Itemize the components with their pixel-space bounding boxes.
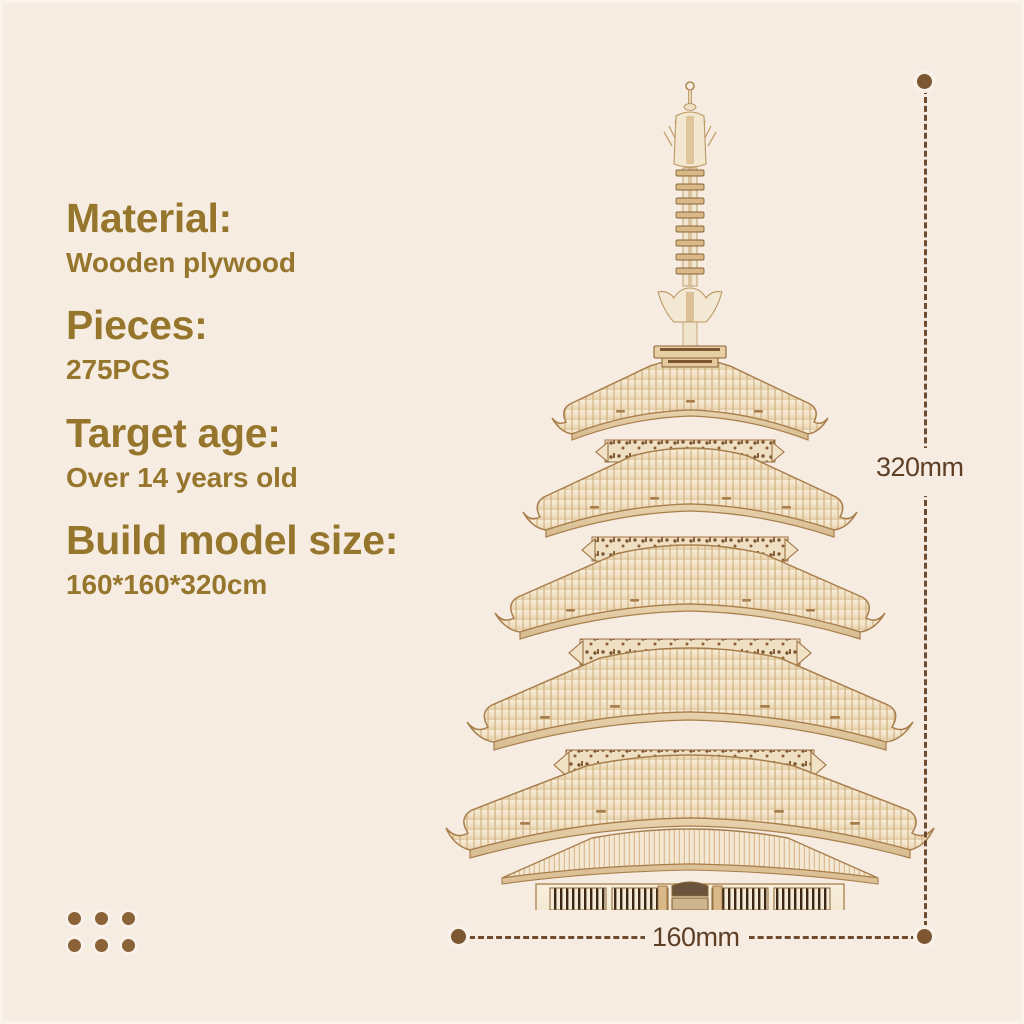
decor-dot <box>122 912 135 925</box>
height-dimension-label: 320mm <box>876 452 964 483</box>
roof-tier-1 <box>552 358 828 440</box>
infographic-canvas: Material: Wooden plywood Pieces: 275PCS … <box>0 0 1024 1024</box>
spec-item-build-size: Build model size: 160*160*320cm <box>66 518 496 603</box>
pagoda-spire <box>654 82 726 358</box>
roof-tier-4 <box>467 648 913 750</box>
spec-item-material: Material: Wooden plywood <box>66 196 496 281</box>
spec-value-target-age: Over 14 years old <box>66 460 496 496</box>
spec-heading-pieces: Pieces: <box>66 303 496 349</box>
spec-value-material: Wooden plywood <box>66 245 496 281</box>
dimension-endpoint-left <box>451 929 466 944</box>
decor-dot <box>68 912 81 925</box>
decor-dot <box>68 939 81 952</box>
spec-item-pieces: Pieces: 275PCS <box>66 303 496 388</box>
height-dimension-line <box>924 88 927 936</box>
spec-item-target-age: Target age: Over 14 years old <box>66 411 496 496</box>
width-dimension-label: 160mm <box>652 922 740 953</box>
roof-tier-3 <box>495 545 885 639</box>
specification-list: Material: Wooden plywood Pieces: 275PCS … <box>66 196 496 619</box>
ground-hall <box>502 829 878 910</box>
decorative-dot-grid <box>68 912 149 966</box>
spec-heading-material: Material: <box>66 196 496 242</box>
pagoda-model-image <box>440 60 940 910</box>
decor-dot <box>95 912 108 925</box>
decor-dot <box>122 939 135 952</box>
dimension-endpoint-corner <box>917 929 932 944</box>
spec-value-build-size: 160*160*320cm <box>66 567 496 603</box>
roof-tier-2 <box>523 448 857 537</box>
spec-heading-target-age: Target age: <box>66 411 496 457</box>
spec-value-pieces: 275PCS <box>66 352 496 388</box>
dimension-endpoint-top <box>917 74 932 89</box>
decor-dot <box>95 939 108 952</box>
spec-heading-build-size: Build model size: <box>66 518 496 564</box>
